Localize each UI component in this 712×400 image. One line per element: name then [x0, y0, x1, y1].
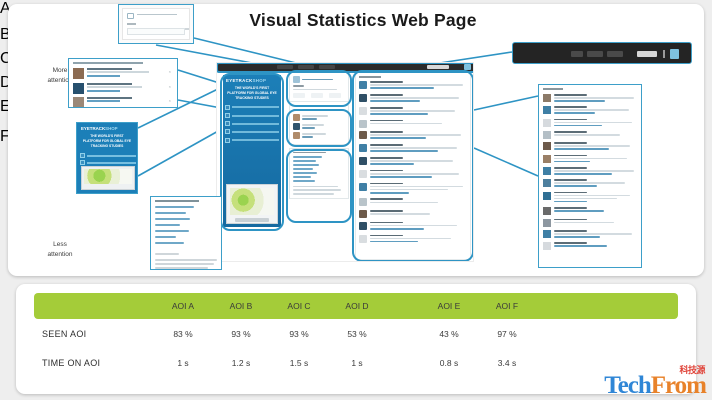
list-item[interactable] [359, 120, 467, 128]
avatar [359, 144, 367, 152]
table-spacer [536, 293, 678, 319]
list-item[interactable] [359, 144, 467, 153]
panel-heading [73, 62, 143, 64]
link[interactable] [155, 212, 186, 214]
avatar [543, 219, 551, 227]
avatar [359, 94, 367, 102]
promo-monitor-image [226, 184, 278, 224]
table-spacer [386, 348, 420, 377]
avatar [359, 183, 367, 191]
cell-seen-aoi-c: 93 % [270, 319, 328, 348]
promo-brand-main: EYETRACK [226, 78, 253, 83]
column-header-aoi-b: AOI B [212, 293, 270, 319]
list-item[interactable] [543, 230, 637, 239]
nav-item[interactable] [571, 51, 583, 57]
action-button[interactable] [311, 93, 323, 98]
trends-footer-panel[interactable] [289, 148, 349, 199]
avatar [543, 167, 551, 175]
watermark-part1: Tech [604, 372, 650, 399]
avatar [543, 242, 551, 250]
who-to-follow-panel[interactable] [289, 105, 349, 145]
avatar [359, 157, 367, 165]
promo-feature-list [225, 105, 279, 143]
nav-item[interactable] [607, 51, 623, 57]
table-row: SEEN AOI 83 % 93 % 93 % 53 % 43 % 97 % [34, 319, 678, 348]
check-icon [225, 138, 230, 143]
list-item[interactable] [543, 167, 637, 176]
nav-item[interactable] [319, 65, 335, 69]
callout-a-compose-tweet-box[interactable] [118, 4, 194, 44]
list-item[interactable] [543, 106, 637, 115]
list-item[interactable]: × [73, 97, 173, 108]
statistics-table: AOI A AOI B AOI C AOI D AOI E AOI F SEEN… [34, 293, 678, 377]
list-item[interactable] [359, 235, 467, 244]
promo-brand-main: EYETRACK [81, 126, 105, 131]
close-icon[interactable]: × [169, 69, 171, 74]
compose-tweet-box[interactable] [289, 72, 349, 102]
avatar [543, 192, 551, 200]
promo-brand: EYETRACKSHOP [226, 78, 281, 83]
compose-header [293, 76, 345, 83]
list-item[interactable] [543, 179, 637, 188]
callout-d-trends-footer[interactable] [150, 196, 222, 270]
column-header-aoi-d: AOI D [328, 293, 386, 319]
list-item[interactable]: × [73, 83, 173, 94]
row-label-seen-aoi: SEEN AOI [34, 319, 154, 348]
avatar [543, 179, 551, 187]
list-item[interactable] [359, 210, 467, 218]
tweet-list [543, 94, 637, 254]
check-icon [225, 121, 230, 126]
avatar [359, 170, 367, 178]
cell-seen-aoi-d: 53 % [328, 319, 386, 348]
table-spacer [386, 319, 420, 348]
list-item[interactable] [359, 183, 467, 195]
column-header-aoi-f: AOI F [478, 293, 536, 319]
compose-actions[interactable] [293, 93, 345, 98]
row-label-time-on-aoi: TIME ON AOI [34, 348, 154, 377]
list-item[interactable] [543, 219, 637, 227]
nav-item[interactable] [298, 65, 314, 69]
panel-heading [155, 200, 199, 202]
avatar[interactable] [670, 49, 679, 59]
cell-time-aoi-c: 1.5 s [270, 348, 328, 377]
list-item[interactable] [225, 129, 279, 134]
avatar [543, 131, 551, 139]
close-icon[interactable]: × [169, 84, 171, 89]
link[interactable] [155, 230, 189, 232]
list-item[interactable] [543, 155, 637, 164]
nav-menu-items[interactable] [277, 65, 335, 69]
link[interactable] [155, 206, 194, 208]
list-item[interactable] [543, 207, 637, 215]
divider [663, 50, 665, 58]
list-item[interactable] [80, 160, 136, 165]
avatar [293, 123, 300, 130]
list-item[interactable] [543, 192, 637, 204]
close-icon[interactable]: × [169, 98, 171, 103]
avatar [359, 198, 367, 206]
promo-monitor-image [81, 166, 135, 190]
link[interactable] [155, 224, 180, 226]
nav-item[interactable] [277, 65, 293, 69]
avatar [543, 106, 551, 114]
link[interactable] [155, 236, 176, 238]
avatar [293, 114, 300, 121]
list-item[interactable] [225, 113, 279, 118]
list-item[interactable] [359, 94, 467, 103]
list-item[interactable] [293, 132, 345, 139]
list-item[interactable] [80, 153, 136, 158]
callout-e-top-navbar[interactable] [512, 42, 692, 64]
cell-time-aoi-a: 1 s [154, 348, 212, 377]
column-header-aoi-e: AOI E [420, 293, 478, 319]
table-header-row: AOI A AOI B AOI C AOI D AOI E AOI F [34, 293, 678, 319]
list-item[interactable] [225, 138, 279, 143]
promo-brand-sub: SHOP [253, 78, 267, 83]
column-header-aoi-c: AOI C [270, 293, 328, 319]
avatar [293, 132, 300, 139]
search-input[interactable] [427, 65, 449, 69]
eyetrackshop-promo-panel[interactable]: EYETRACKSHOP THE WORLD'S FIRST PLATFORM … [223, 75, 281, 227]
list-item[interactable] [225, 105, 279, 110]
list-item[interactable] [543, 142, 637, 151]
link[interactable] [155, 218, 190, 220]
avatar [359, 107, 367, 115]
composite-webpage-screenshot[interactable]: EYETRACKSHOP THE WORLD'S FIRST PLATFORM … [216, 62, 474, 262]
avatar [293, 76, 300, 83]
cell-seen-aoi-b: 93 % [212, 319, 270, 348]
check-icon [80, 160, 85, 165]
link[interactable] [155, 242, 184, 244]
callout-b-who-to-follow[interactable]: × × × [68, 58, 178, 108]
list-item[interactable] [225, 121, 279, 126]
statistics-table-wrapper: AOI A AOI B AOI C AOI D AOI E AOI F SEEN… [16, 284, 696, 394]
search-input[interactable] [637, 51, 657, 57]
middle-column [289, 72, 349, 202]
list-item[interactable] [543, 119, 637, 128]
monitor-stand [235, 218, 269, 222]
nav-item[interactable] [587, 51, 603, 57]
table-spacer [536, 319, 678, 348]
site-top-navigation-bar[interactable] [217, 63, 474, 71]
avatar [359, 210, 367, 218]
heatmap-thumbnail [230, 188, 274, 215]
heatmap-thumbnail [84, 169, 132, 184]
avatar [543, 94, 551, 102]
avatar [543, 155, 551, 163]
list-item[interactable] [543, 242, 637, 250]
promo-tagline: THE WORLD'S FIRST PLATFORM FOR GLOBAL EY… [226, 86, 278, 101]
tweet-timeline-panel[interactable] [355, 72, 471, 260]
list-item[interactable] [359, 157, 467, 166]
list-item[interactable] [359, 131, 467, 140]
compose-icon [127, 13, 134, 19]
slide-canvas: Visual Statistics Web Page More attentio… [0, 0, 712, 400]
list-item[interactable]: × [73, 68, 173, 79]
check-icon [225, 105, 230, 110]
avatar [73, 83, 84, 94]
avatar [543, 119, 551, 127]
techfrom-watermark: 科技源 TechFrom [604, 366, 706, 398]
promo-tagline: THE WORLD'S FIRST PLATFORM FOR GLOBAL EY… [81, 134, 133, 148]
avatar [359, 235, 367, 243]
list-item[interactable] [359, 81, 467, 90]
list-item[interactable] [543, 94, 637, 103]
check-icon [225, 129, 230, 134]
promo-brand: EYETRACKSHOP [81, 126, 118, 131]
cell-time-aoi-b: 1.2 s [212, 348, 270, 377]
avatar [359, 131, 367, 139]
cell-time-aoi-d: 1 s [328, 348, 386, 377]
table-corner-cell [34, 293, 154, 319]
action-button[interactable] [293, 93, 305, 98]
timeline-heading [359, 76, 381, 78]
watermark-logo: TechFrom [604, 372, 706, 399]
table-spacer [386, 293, 420, 319]
list-item[interactable] [293, 123, 345, 130]
avatar [73, 68, 84, 79]
avatar [359, 120, 367, 128]
list-item[interactable] [543, 131, 637, 139]
page-body: EYETRACKSHOP THE WORLD'S FIRST PLATFORM … [217, 71, 474, 262]
promo-brand-sub: SHOP [105, 126, 117, 131]
cell-time-aoi-e: 0.8 s [420, 348, 478, 377]
avatar [73, 97, 84, 108]
column-header-aoi-a: AOI A [154, 293, 212, 319]
avatar [359, 222, 367, 230]
action-button[interactable] [329, 93, 341, 98]
table-row: TIME ON AOI 1 s 1.2 s 1.5 s 1 s 0.8 s 3.… [34, 348, 678, 377]
watermark-part2: From [651, 372, 706, 399]
avatar [543, 142, 551, 150]
list-item[interactable] [293, 114, 345, 121]
check-icon [80, 153, 85, 158]
cell-seen-aoi-f: 97 % [478, 319, 536, 348]
avatar [359, 81, 367, 89]
callout-c-eyetrackshop-promo[interactable]: EYETRACKSHOP THE WORLD'S FIRST PLATFORM … [76, 122, 138, 194]
cell-seen-aoi-a: 83 % [154, 319, 212, 348]
check-icon [225, 113, 230, 118]
cell-time-aoi-f: 3.4 s [478, 348, 536, 377]
avatar [543, 207, 551, 215]
list-item[interactable] [359, 198, 467, 206]
panel-heading [543, 88, 563, 90]
cell-seen-aoi-e: 43 % [420, 319, 478, 348]
avatar [543, 230, 551, 238]
list-item[interactable] [359, 222, 467, 231]
callout-f-tweet-timeline[interactable] [538, 84, 642, 268]
list-item[interactable] [359, 107, 467, 116]
tweet-text-input[interactable] [127, 28, 185, 35]
avatar[interactable] [464, 64, 471, 70]
list-item[interactable] [359, 170, 467, 179]
